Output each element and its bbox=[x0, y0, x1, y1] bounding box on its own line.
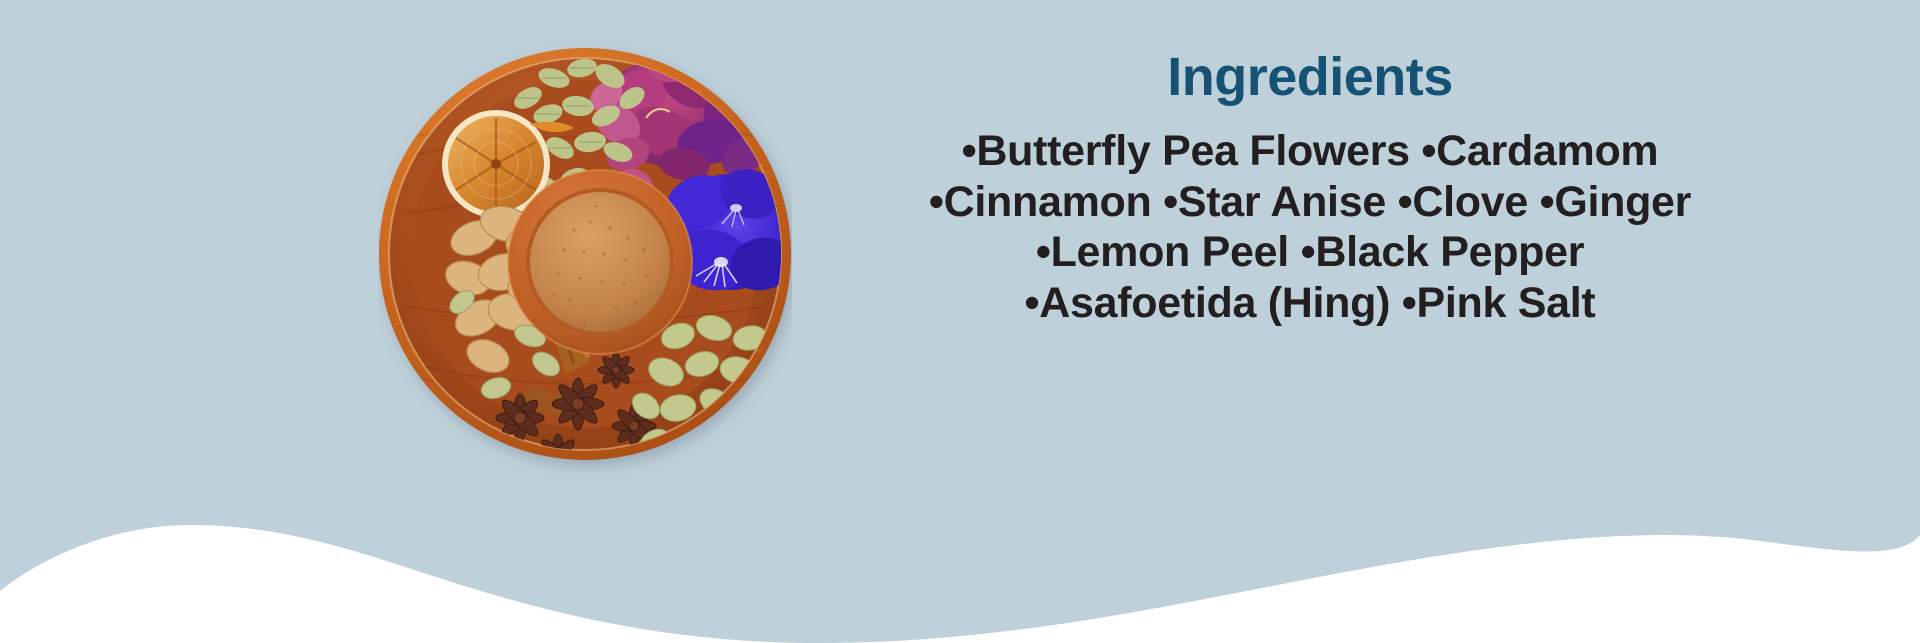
ingredients-content: Ingredients •Butterfly Pea Flowers •Card… bbox=[780, 28, 1840, 408]
ingredient-line-3: •Lemon Peel •Black Pepper bbox=[780, 227, 1840, 278]
ingredient-line-2: •Cinnamon •Star Anise •Clove •Ginger bbox=[780, 177, 1840, 228]
ingredients-banner: Ingredients •Butterfly Pea Flowers •Card… bbox=[0, 0, 1920, 643]
ingredient-line-4: •Asafoetida (Hing) •Pink Salt bbox=[780, 278, 1840, 329]
page-title: Ingredients bbox=[780, 28, 1840, 104]
seed-bowl bbox=[508, 170, 692, 354]
wave-shape bbox=[0, 525, 1920, 643]
spice-plate-photo bbox=[378, 6, 792, 502]
bottom-wave-decoration bbox=[0, 463, 1920, 643]
ingredient-list: •Butterfly Pea Flowers •Cardamom •Cinnam… bbox=[780, 126, 1840, 329]
ingredient-line-1: •Butterfly Pea Flowers •Cardamom bbox=[780, 126, 1840, 177]
